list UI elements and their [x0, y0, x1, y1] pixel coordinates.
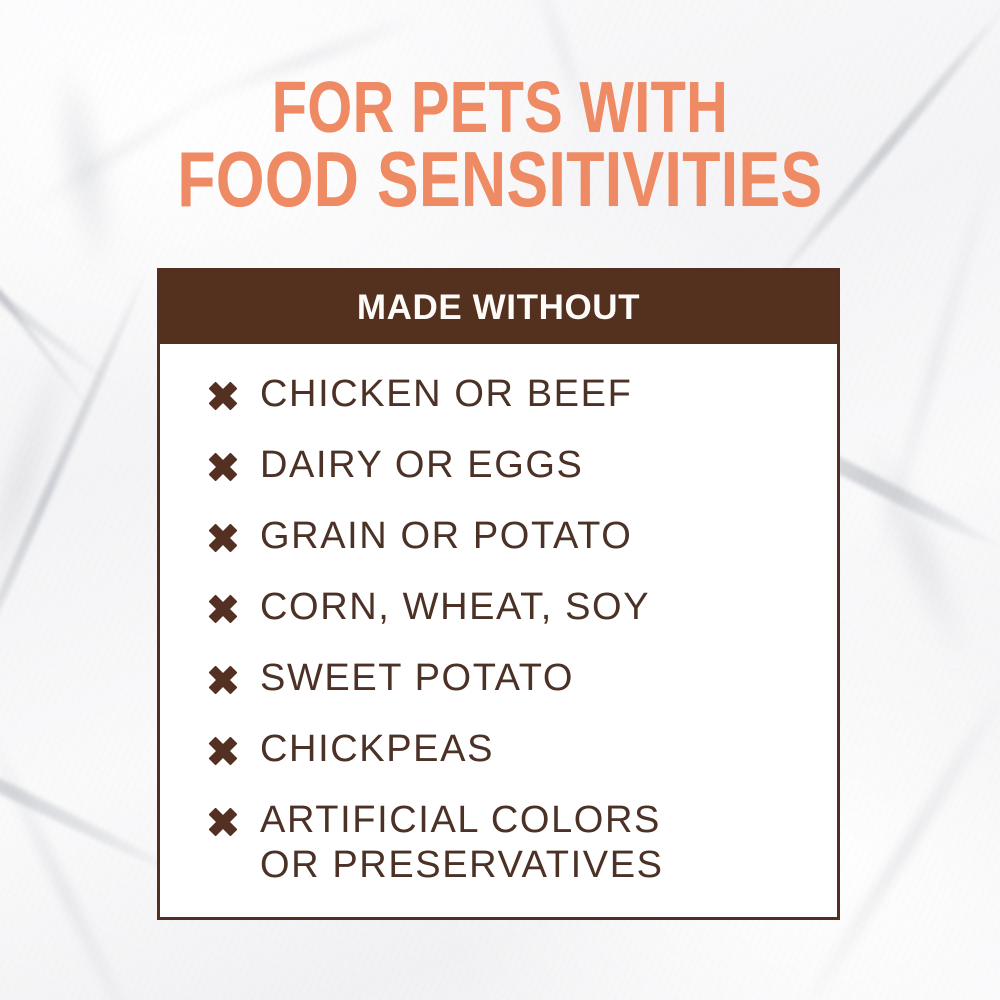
card-header-title: MADE WITHOUT: [357, 288, 640, 328]
poster-canvas: FOR PETS WITH FOOD SENSITIVITIES MADE WI…: [0, 0, 1000, 1000]
list-item: CHICKPEAS: [207, 727, 837, 772]
x-mark-icon: [207, 806, 238, 837]
list-item-label: ARTIFICIAL COLORS OR PRESERVATIVES: [260, 798, 664, 888]
x-mark-icon: [207, 593, 238, 624]
page-title: FOR PETS WITH FOOD SENSITIVITIES: [100, 73, 900, 215]
page-title-line-1: FOR PETS WITH: [100, 73, 900, 144]
list-item-label: SWEET POTATO: [260, 656, 574, 701]
list-item: DAIRY OR EGGS: [207, 443, 837, 488]
made-without-card: MADE WITHOUT CHICKEN OR BEEF DAIRY OR EG…: [157, 268, 840, 920]
page-title-line-2: FOOD SENSITIVITIES: [100, 144, 900, 215]
list-item: CORN, WHEAT, SOY: [207, 585, 837, 630]
list-item: ARTIFICIAL COLORS OR PRESERVATIVES: [207, 798, 837, 888]
list-item-label: CORN, WHEAT, SOY: [260, 585, 650, 630]
excluded-ingredients-list: CHICKEN OR BEEF DAIRY OR EGGS GRAIN OR P…: [207, 372, 837, 888]
list-item-label: GRAIN OR POTATO: [260, 514, 632, 559]
x-mark-icon: [207, 451, 238, 482]
list-item: CHICKEN OR BEEF: [207, 372, 837, 417]
x-mark-icon: [207, 380, 238, 411]
x-mark-icon: [207, 522, 238, 553]
list-item: GRAIN OR POTATO: [207, 514, 837, 559]
list-item-label: CHICKPEAS: [260, 727, 494, 772]
x-mark-icon: [207, 664, 238, 695]
x-mark-icon: [207, 735, 238, 766]
list-item-label: DAIRY OR EGGS: [260, 443, 583, 488]
list-item: SWEET POTATO: [207, 656, 837, 701]
list-item-label: CHICKEN OR BEEF: [260, 372, 632, 417]
card-body: CHICKEN OR BEEF DAIRY OR EGGS GRAIN OR P…: [160, 344, 837, 888]
card-header: MADE WITHOUT: [160, 271, 837, 344]
